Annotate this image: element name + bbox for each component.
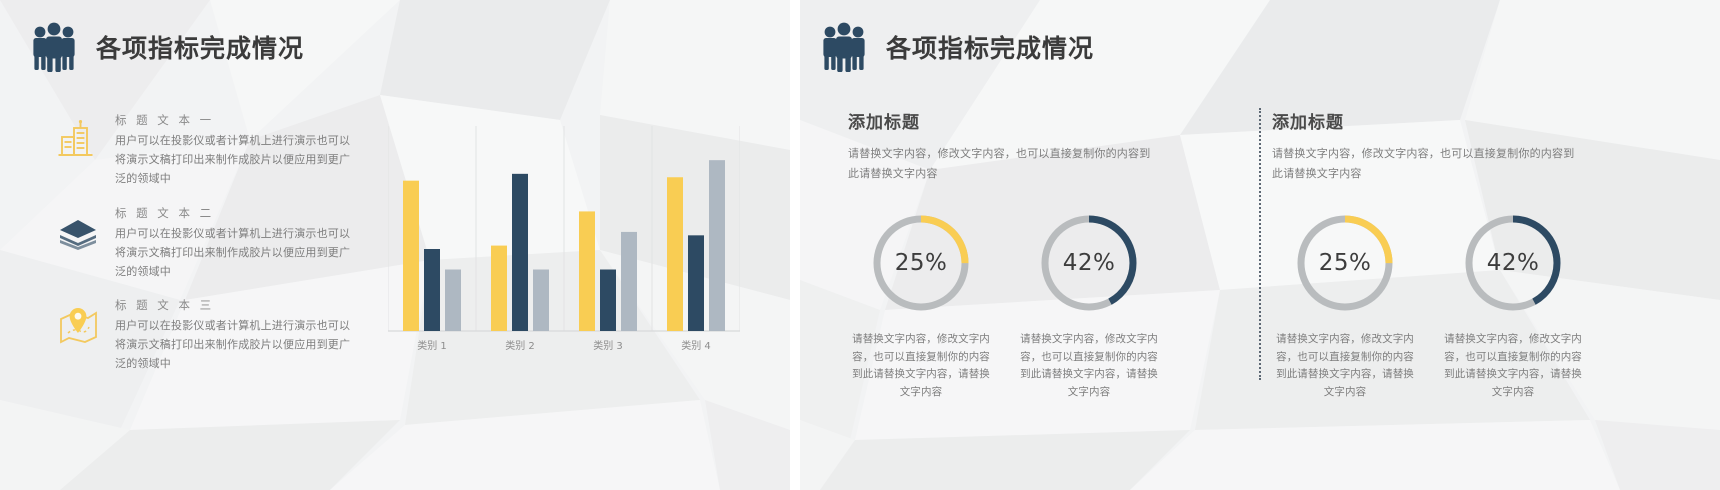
donut-chart: 25% (1293, 211, 1397, 315)
donut-chart: 25% (869, 211, 973, 315)
column-title: 添加标题 (848, 108, 1248, 133)
three-people-icon (28, 22, 80, 72)
donut-caption: 请替换文字内容，修改文字内容，也可以直接复制你的内容到此请替换文字内容，请替换文… (1440, 331, 1586, 402)
donut-cell[interactable]: 25% 请替换文字内容，修改文字内容，也可以直接复制你的内容到此请替换文字内容，… (848, 211, 994, 402)
feature-body: 用户可以在投影仪或者计算机上进行演示也可以将演示文稿打印出来制作成胶片以便应用到… (115, 225, 355, 282)
list-item[interactable]: 标 题 文 本 二 用户可以在投影仪或者计算机上进行演示也可以将演示文稿打印出来… (55, 205, 355, 282)
svg-text:类别 4: 类别 4 (681, 339, 711, 352)
slide-right-header: 各项指标完成情况 (818, 22, 1094, 72)
feature-body: 用户可以在投影仪或者计算机上进行演示也可以将演示文稿打印出来制作成胶片以便应用到… (115, 132, 355, 189)
bar-chart: 类别 1类别 2类别 3类别 4 (388, 118, 740, 363)
slide-deck: 各项指标完成情况 (0, 0, 1720, 490)
donut-group: 25% 请替换文字内容，修改文字内容，也可以直接复制你的内容到此请替换文字内容，… (848, 211, 1248, 402)
three-people-icon (818, 22, 870, 72)
page-title: 各项指标完成情况 (886, 29, 1094, 65)
feature-title: 标 题 文 本 一 (115, 112, 355, 128)
feature-text: 标 题 文 本 二 用户可以在投影仪或者计算机上进行演示也可以将演示文稿打印出来… (115, 205, 355, 282)
feature-list: 标 题 文 本 一 用户可以在投影仪或者计算机上进行演示也可以将演示文稿打印出来… (55, 112, 355, 390)
column-body: 请替换文字内容，修改文字内容，也可以直接复制你的内容到此请替换文字内容 (848, 144, 1160, 185)
donut-cell[interactable]: 42% 请替换文字内容，修改文字内容，也可以直接复制你的内容到此请替换文字内容，… (1016, 211, 1162, 402)
donut-cell[interactable]: 25% 请替换文字内容，修改文字内容，也可以直接复制你的内容到此请替换文字内容，… (1272, 211, 1418, 402)
feature-text: 标 题 文 本 一 用户可以在投影仪或者计算机上进行演示也可以将演示文稿打印出来… (115, 112, 355, 189)
feature-title: 标 题 文 本 三 (115, 297, 355, 313)
building-icon (55, 118, 101, 164)
donut-value-label: 25% (1293, 211, 1397, 315)
donut-cell[interactable]: 42% 请替换文字内容，修改文字内容，也可以直接复制你的内容到此请替换文字内容，… (1440, 211, 1586, 402)
column-title: 添加标题 (1272, 108, 1672, 133)
donut-group: 25% 请替换文字内容，修改文字内容，也可以直接复制你的内容到此请替换文字内容，… (1272, 211, 1672, 402)
svg-text:类别 2: 类别 2 (505, 339, 535, 352)
vertical-dotted-divider (1259, 108, 1261, 380)
svg-text:类别 3: 类别 3 (593, 339, 623, 352)
slide-right: 各项指标完成情况 添加标题 请替换文字内容，修改文字内容，也可以直接复制你的内容… (800, 0, 1720, 490)
slide-left: 各项指标完成情况 (0, 0, 790, 490)
column-body: 请替换文字内容，修改文字内容，也可以直接复制你的内容到此请替换文字内容 (1272, 144, 1584, 185)
feature-title: 标 题 文 本 二 (115, 205, 355, 221)
content-column-a: 添加标题 请替换文字内容，修改文字内容，也可以直接复制你的内容到此请替换文字内容… (848, 108, 1248, 402)
donut-value-label: 42% (1461, 211, 1565, 315)
donut-chart: 42% (1037, 211, 1141, 315)
paper-stack-icon (55, 211, 101, 257)
donut-caption: 请替换文字内容，修改文字内容，也可以直接复制你的内容到此请替换文字内容，请替换文… (1272, 331, 1418, 402)
map-pin-icon (55, 303, 101, 349)
slide-left-header: 各项指标完成情况 (28, 22, 304, 72)
content-column-b: 添加标题 请替换文字内容，修改文字内容，也可以直接复制你的内容到此请替换文字内容… (1272, 108, 1672, 402)
svg-text:类别 1: 类别 1 (417, 339, 447, 352)
page-title: 各项指标完成情况 (96, 29, 304, 65)
donut-caption: 请替换文字内容，修改文字内容，也可以直接复制你的内容到此请替换文字内容，请替换文… (1016, 331, 1162, 402)
donut-caption: 请替换文字内容，修改文字内容，也可以直接复制你的内容到此请替换文字内容，请替换文… (848, 331, 994, 402)
donut-chart: 42% (1461, 211, 1565, 315)
donut-value-label: 25% (869, 211, 973, 315)
list-item[interactable]: 标 题 文 本 三 用户可以在投影仪或者计算机上进行演示也可以将演示文稿打印出来… (55, 297, 355, 374)
donut-value-label: 42% (1037, 211, 1141, 315)
list-item[interactable]: 标 题 文 本 一 用户可以在投影仪或者计算机上进行演示也可以将演示文稿打印出来… (55, 112, 355, 189)
slide-gap (790, 0, 800, 490)
feature-text: 标 题 文 本 三 用户可以在投影仪或者计算机上进行演示也可以将演示文稿打印出来… (115, 297, 355, 374)
feature-body: 用户可以在投影仪或者计算机上进行演示也可以将演示文稿打印出来制作成胶片以便应用到… (115, 317, 355, 374)
